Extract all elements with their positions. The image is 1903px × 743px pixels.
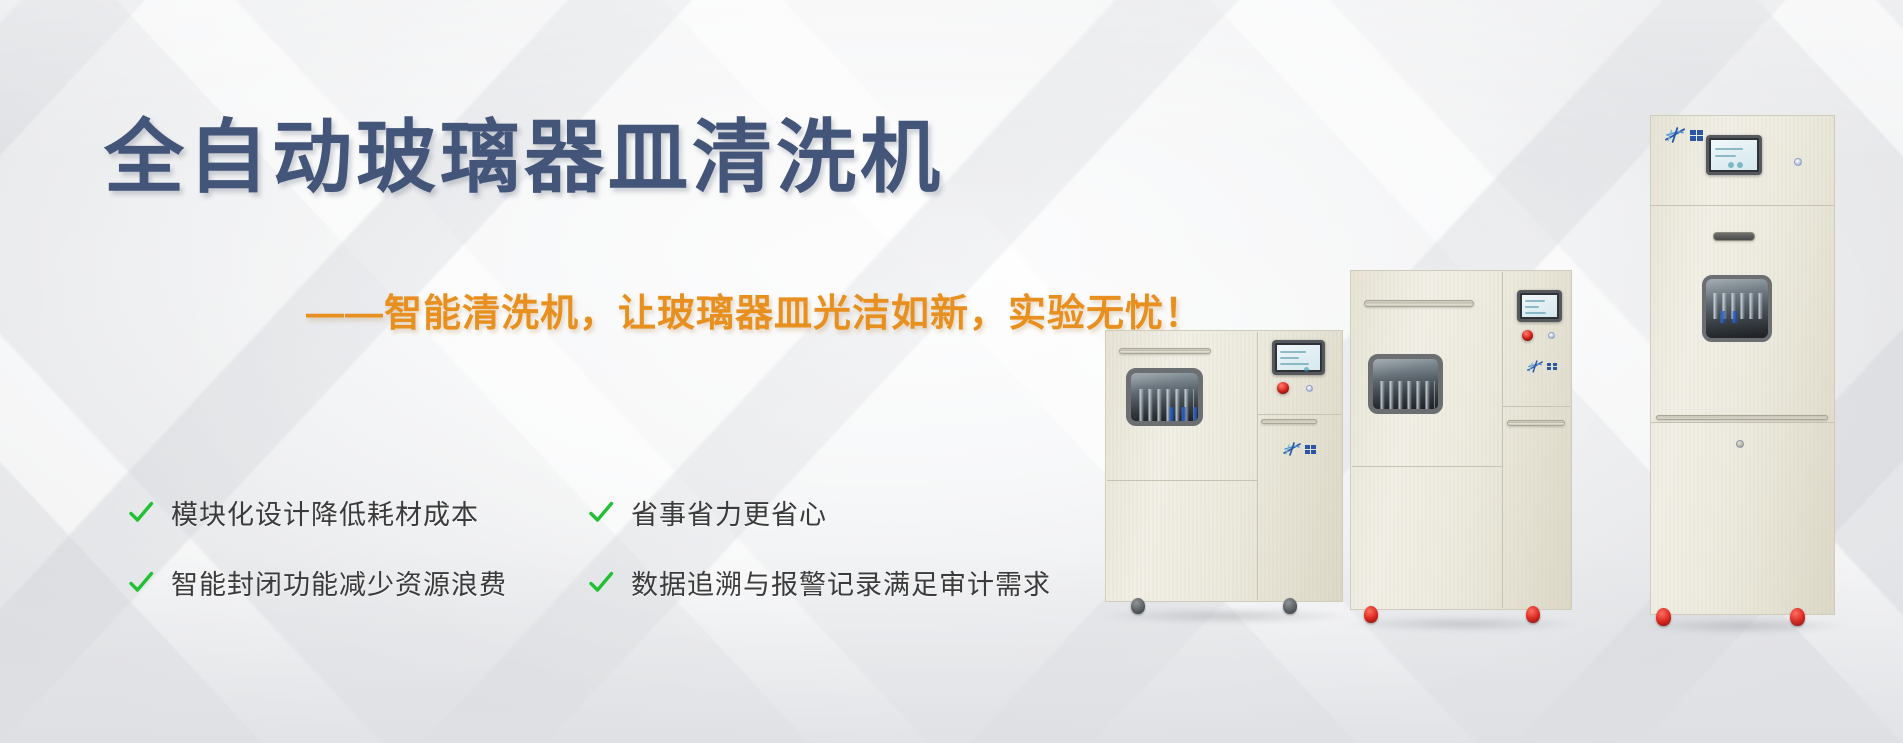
door-handle[interactable] <box>1364 300 1474 307</box>
list-item: 模块化设计降低耗材成本 <box>128 493 588 532</box>
list-item-label: 智能封闭功能减少资源浪费 <box>171 563 507 602</box>
chamber-viewing-window <box>1126 368 1203 426</box>
check-icon <box>128 499 154 525</box>
subtitle: ——智能清洗机，让玻璃器皿光洁如新，实验无忧！ <box>306 295 1203 333</box>
logo-wordmark <box>1547 363 1557 371</box>
panel-seam <box>1503 406 1570 407</box>
indicator-light[interactable] <box>1794 158 1802 166</box>
screen-content <box>1522 295 1557 317</box>
panel-seam <box>1107 480 1257 481</box>
product-hero-banner: 全自动玻璃器皿清洗机 ——智能清洗机，让玻璃器皿光洁如新，实验无忧！ 模块化设计… <box>0 0 1903 743</box>
chamber-viewing-window <box>1368 354 1443 414</box>
page-title: 全自动玻璃器皿清洗机 <box>104 118 944 198</box>
check-icon <box>588 569 614 595</box>
glassware-rack-blue-spigots <box>1163 407 1197 421</box>
door-handle[interactable] <box>1119 348 1211 354</box>
floor-shadow <box>1101 608 1349 624</box>
touchscreen-panel[interactable] <box>1706 135 1762 175</box>
panel-seam <box>1502 272 1503 608</box>
glassware-rack-blue-spigots <box>1714 311 1744 323</box>
chamber-viewing-window <box>1702 275 1772 342</box>
brand-logo <box>1526 360 1557 373</box>
lower-door-handle[interactable] <box>1261 419 1317 424</box>
logo-wordmark <box>1305 445 1316 454</box>
panel-seam <box>1258 414 1341 415</box>
list-item-label: 数据追溯与报警记录满足审计需求 <box>631 563 1051 602</box>
panel-seam <box>1352 466 1502 467</box>
screen-content <box>1711 140 1757 170</box>
floor-shadow <box>1642 618 1844 634</box>
touchscreen-panel[interactable] <box>1272 340 1325 375</box>
dispenser-slot[interactable] <box>1713 232 1755 241</box>
list-item-label: 模块化设计降低耗材成本 <box>171 493 479 532</box>
door-lock-indicator <box>1736 440 1744 448</box>
indicator-light[interactable] <box>1306 385 1313 392</box>
screen-content <box>1277 345 1320 370</box>
product-image-group <box>1105 115 1885 655</box>
list-item: 省事省力更省心 <box>588 493 1051 532</box>
panel-seam <box>1651 205 1834 206</box>
machine-body <box>1650 115 1835 615</box>
list-item-label: 省事省力更省心 <box>631 493 827 532</box>
product-image-undercounter-washer <box>1105 330 1343 602</box>
brand-logo <box>1282 442 1316 456</box>
indicator-light[interactable] <box>1548 332 1555 339</box>
lower-door-handle[interactable] <box>1507 420 1565 426</box>
check-icon <box>128 569 154 595</box>
glassware-rack <box>1376 381 1435 414</box>
emergency-stop-button[interactable] <box>1522 330 1533 341</box>
panel-seam <box>1651 422 1834 423</box>
emergency-stop-button[interactable] <box>1277 382 1289 394</box>
check-icon <box>588 499 614 525</box>
product-image-tall-cabinet-washer <box>1650 115 1835 615</box>
list-item: 智能封闭功能减少资源浪费 <box>128 563 588 602</box>
logo-wordmark <box>1690 130 1703 141</box>
brand-logo <box>1663 127 1703 143</box>
panel-seam <box>1257 332 1258 600</box>
lower-door-handle[interactable] <box>1656 415 1828 420</box>
floor-shadow <box>1346 616 1578 632</box>
list-item: 数据追溯与报警记录满足审计需求 <box>588 563 1051 602</box>
product-image-freestanding-washer <box>1350 270 1572 610</box>
feature-list: 模块化设计降低耗材成本 省事省力更省心 智能封闭功能减少资源浪费 <box>128 477 1051 617</box>
touchscreen-panel[interactable] <box>1517 290 1562 322</box>
